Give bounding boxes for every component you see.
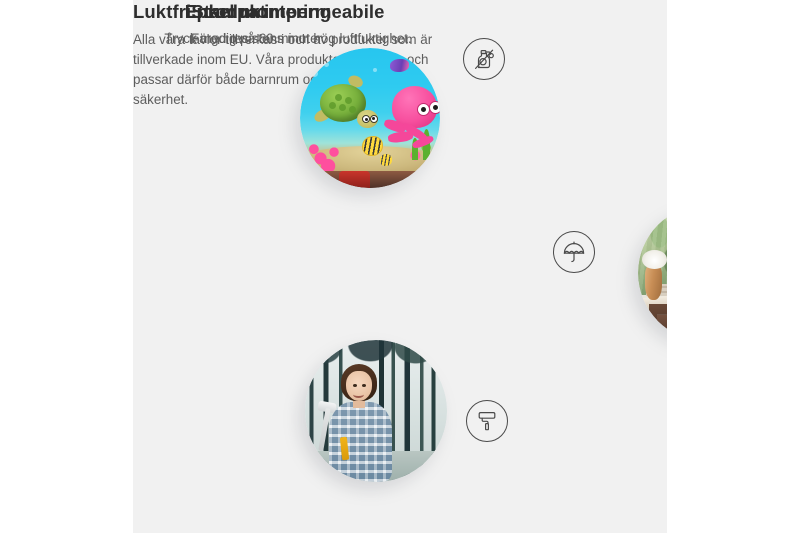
feature-block-mounting: Enkel montering Färgdig på 60 minuter. (133, 0, 383, 49)
infographic-page: Luktfri produkt Alla våra tavlor tillver… (0, 0, 800, 533)
bathroom-illustration (638, 205, 667, 341)
aquarium-illustration (300, 48, 440, 188)
feature-description-mounting: Färgdig på 60 minuter. (133, 29, 383, 49)
umbrella-icon (553, 231, 595, 273)
underwater-cartoon-scene-photo (300, 48, 440, 188)
feature-title-mounting: Enkel montering (133, 0, 383, 23)
no-scent-spray-bottle-icon (463, 38, 505, 80)
bathroom-tropical-wallpaper-photo (638, 205, 667, 341)
paint-roller-icon (466, 400, 508, 442)
woman-with-paint-roller-forest-photo (305, 340, 447, 482)
mounting-text-group: Enkel montering Färgdig på 60 minuter. (133, 0, 383, 49)
content-panel: Luktfri produkt Alla våra tavlor tillver… (133, 0, 667, 533)
forest-illustration (305, 340, 447, 482)
